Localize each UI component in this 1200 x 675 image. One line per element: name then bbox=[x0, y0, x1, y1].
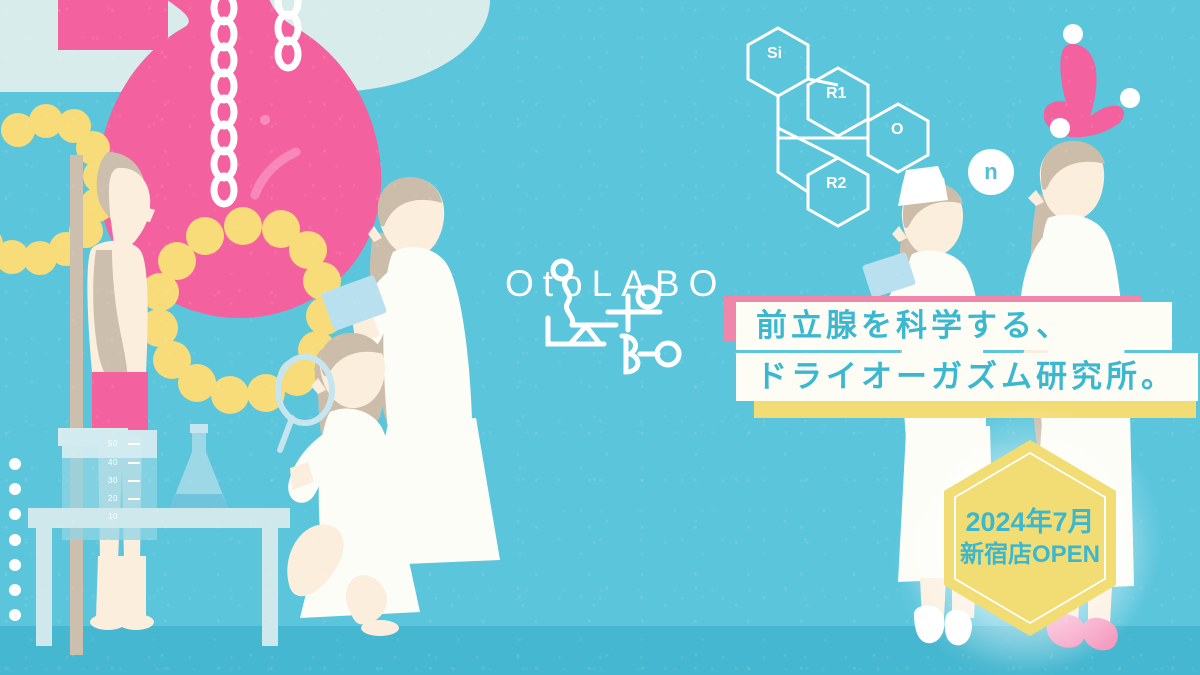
pink-abstract-splash bbox=[1044, 24, 1140, 138]
badge-text-block: 2024年7月 新宿店OPEN bbox=[960, 507, 1100, 570]
brand-logo[interactable]: OtoLABO bbox=[505, 255, 705, 305]
open-date-badge[interactable]: 2024年7月 新宿店OPEN bbox=[944, 440, 1116, 636]
banner-canvas: 50 40 30 20 10 Si R1 O R2 n OtoLABO 前立腺を… bbox=[0, 0, 1200, 675]
conical-flask bbox=[170, 424, 228, 508]
badge-line-2: 新宿店OPEN bbox=[960, 541, 1100, 570]
molecule-node-r2: R2 bbox=[826, 175, 846, 193]
tagline-line-2: ドライオーガズム研究所。 bbox=[736, 353, 1198, 401]
tagline-panel: 前立腺を科学する、 ドライオーガズム研究所。 bbox=[736, 302, 1198, 401]
measuring-pole bbox=[70, 155, 83, 655]
dot-column bbox=[9, 458, 21, 621]
molecule-node-si: Si bbox=[767, 45, 782, 63]
molecule-node-r1: R1 bbox=[826, 85, 846, 103]
tagline-line-1: 前立腺を科学する、 bbox=[736, 302, 1172, 350]
brand-logo-text: OtoLABO bbox=[505, 263, 705, 305]
molecule-node-o: O bbox=[891, 121, 903, 139]
badge-line-1: 2024年7月 bbox=[960, 507, 1100, 538]
molecule-subscript-n: n bbox=[968, 149, 1014, 195]
